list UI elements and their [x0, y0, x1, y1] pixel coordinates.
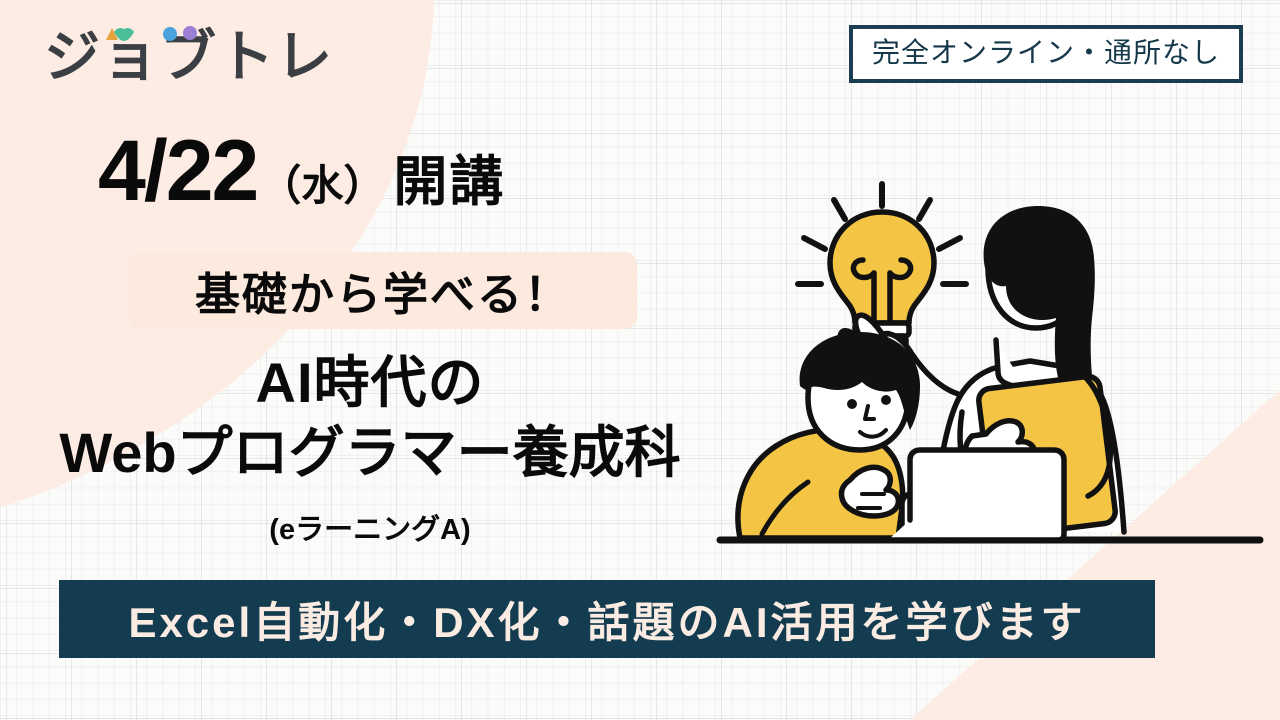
course-subtitle: (eラーニングA): [0, 506, 740, 548]
online-badge-label: 完全オンライン・通所なし: [872, 37, 1220, 69]
promo-banner: ジョブトレ 完全オンライン・通所なし 4/22 （水） 開講 基礎から学べる！ …: [0, 0, 1280, 720]
highlight-band: 基礎から学べる！: [129, 252, 637, 329]
course-title-line1: AI時代の: [0, 352, 740, 415]
online-badge: 完全オンライン・通所なし: [849, 25, 1243, 83]
start-date-label: 開講: [393, 137, 505, 216]
highlight-band-text: 基礎から学べる！: [195, 258, 571, 323]
illustration-group: [700, 150, 1280, 570]
lightbulb-icon: [830, 212, 934, 323]
bottom-banner: Excel自動化・DX化・話題のAI活用を学びます: [59, 580, 1155, 658]
brand-logo-accent-dots: [100, 24, 220, 46]
start-date-dayofweek: （水）: [259, 152, 385, 213]
bottom-banner-text: Excel自動化・DX化・話題のAI活用を学びます: [128, 589, 1085, 650]
course-title: AI時代の Webプログラマー養成科: [0, 352, 740, 485]
start-date-value: 4/22: [98, 128, 257, 214]
course-title-line2: Webプログラマー養成科: [0, 421, 740, 485]
start-date-heading: 4/22 （水） 開講: [98, 128, 505, 216]
brand-logo[interactable]: ジョブトレ: [44, 30, 334, 86]
